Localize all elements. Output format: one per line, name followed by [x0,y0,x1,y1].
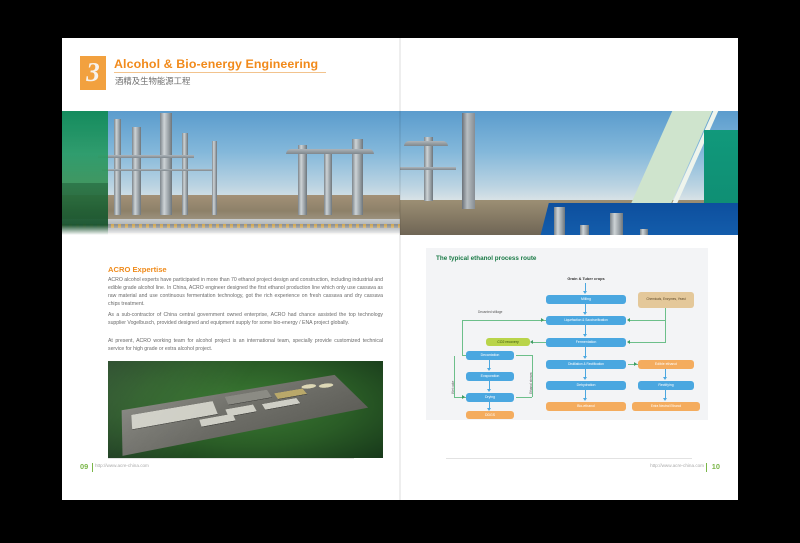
footer-bar-left [92,463,93,472]
section-number: 3 [80,55,106,89]
aerial-site-render [108,361,383,458]
overhead-pipe [286,149,374,154]
column-7 [324,151,332,215]
aerial-highlight [108,361,383,458]
page-number-right: 10 [712,462,720,471]
node-drying: Drying [466,393,514,402]
photo-deep-sky [518,203,738,235]
node-extra-neutral: Extra Neutral Ethanol [632,402,700,411]
arrow-stillage-liq [462,320,546,321]
node-evaporation: Evaporation [466,372,514,381]
arrow-chem-vert [665,308,666,343]
arrow-chem-liq [630,320,666,321]
node-dehydration: Dehydration [546,381,626,390]
spread-gutter [399,38,401,500]
page-url-right: http://www.acre-china.com [650,463,704,468]
footer-bar-right [706,463,707,472]
distillation-photo [518,203,738,235]
arrowhead-dry [487,389,491,392]
expertise-paragraph-1: ACRO alcohol experts have participated i… [108,277,383,309]
arrowhead-evap [487,368,491,371]
arrowhead-milling [583,291,587,294]
brochure-spread-screenshot: 3 Alcohol & Bio-energy Engineering 酒精及生物… [0,0,800,543]
arrow-ethanol-stream-bot [516,397,532,398]
expertise-paragraph-2: As a sub-contractor of China central gov… [108,312,383,328]
right-pipe-rack [400,167,456,170]
left-page: 3 Alcohol & Bio-energy Engineering 酒精及生物… [62,38,400,500]
expertise-paragraph-3: At present, ACRO working team for alcoho… [108,338,383,354]
column-3 [160,113,172,215]
label-decanted-stillage: Decanted stillage [478,310,502,314]
node-milling: Milling [546,295,626,304]
diagram-title: The typical ethanol process route [436,255,536,262]
arrowhead-stillage [541,318,544,322]
expertise-heading: ACRO Expertise [108,265,167,274]
arrowhead-chem-ferm [627,340,630,344]
process-flow-diagram: The typical ethanol process route Grain … [426,248,708,420]
node-fermentation: Fermentation [546,338,626,347]
right-overhead-pipe [404,141,448,146]
node-decantation: Decantation [466,351,514,360]
arrowhead-dehy [583,377,587,380]
brochure-spread: 3 Alcohol & Bio-energy Engineering 酒精及生物… [62,38,738,500]
node-liquefaction: Liquefaction & Saccharification [546,316,626,325]
node-bio-ethanol: Bio-ethanol [546,402,626,411]
dist-column-1 [554,207,565,235]
arrowhead-ena [663,398,667,401]
section-title-en: Alcohol & Bio-energy Engineering [114,57,318,71]
label-ethanol-stream: Ethanol stream [529,373,533,394]
page-number-left: 09 [80,462,88,471]
node-distillation: Distillation & Rectification [546,360,626,369]
node-feedstock: Grain & Tuber crops [548,276,624,281]
gas-plant-photo [400,111,738,235]
pipe-rack-1 [98,155,194,158]
arrowhead-edible [634,362,637,366]
right-page: Energy saving high efficiency distillati… [400,38,738,500]
footer-divider-right [446,458,692,459]
arrow-ferm-co2 [532,342,546,343]
node-edible-ethanol: Edible ethanol [638,360,694,369]
arrowhead-rect [663,377,667,380]
footer-divider-left [108,458,354,459]
pipe-rack-2 [102,169,212,171]
plant-photo-left [62,111,400,235]
node-ddgs: DDGS [466,411,514,419]
dist-column-4 [640,229,648,235]
section-title-cn: 酒精及生物能源工程 [115,75,190,87]
arrowhead-wetcake [462,395,465,399]
dist-column-3 [610,213,623,235]
green-edge-wash [62,111,108,235]
column-2 [132,127,141,215]
arrow-ethanol-stream-top [516,355,532,356]
column-5 [212,141,217,215]
page-url-left: http://www.acre-china.com [95,463,149,468]
arrowhead-dist [583,356,587,359]
column-6 [298,145,307,215]
arrowhead-bio [583,398,587,401]
dist-column-2 [580,225,589,235]
arrowhead-co2 [530,340,533,344]
header-rule [114,72,326,73]
right-stack [462,113,475,209]
arrow-chem-ferm [630,342,666,343]
arrow-stillage-riser [462,320,463,356]
arrowhead-ferm [583,334,587,337]
arrowhead-chem-liq [627,318,630,322]
label-wet-cake: Wet cake [451,381,455,394]
node-co2-recovery: CO2 recovery [486,338,530,346]
column-4 [182,133,188,215]
node-rectifying: Rectifying [638,381,694,390]
column-1 [114,119,121,215]
node-chemicals: Chemicals, Enzymes, Yeast [638,292,694,308]
arrowhead-liq [583,312,587,315]
photo-bottom-fade [62,225,400,235]
